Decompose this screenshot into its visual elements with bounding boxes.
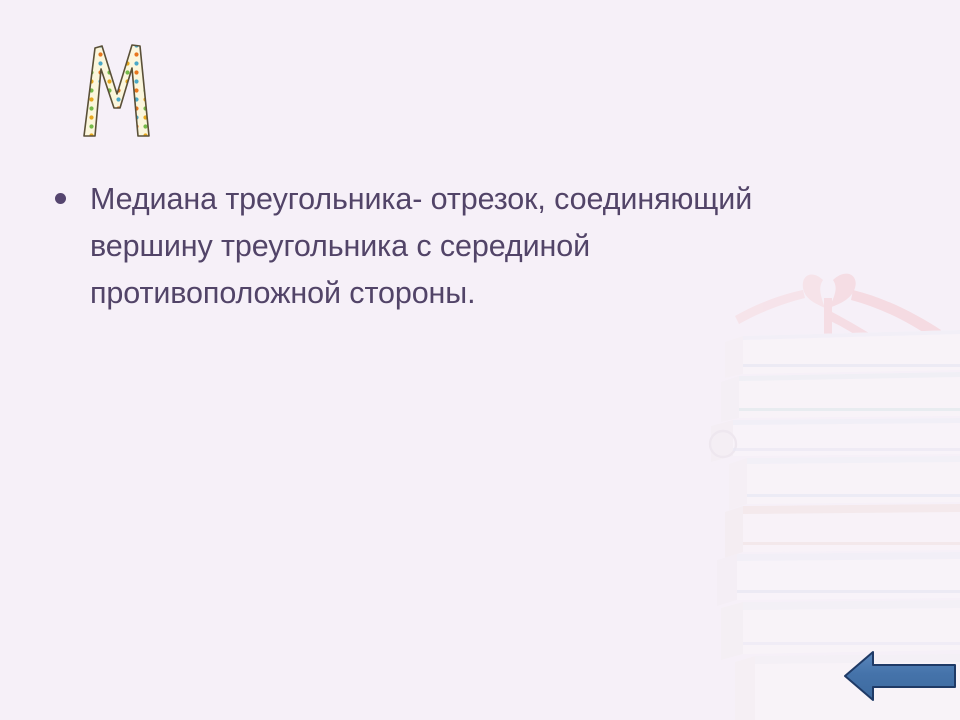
decorative-letter-m xyxy=(78,32,156,142)
back-arrow-icon xyxy=(845,652,955,700)
slide-canvas: Медиана треугольника- отрезок, соединяющ… xyxy=(0,0,960,720)
definition-bullet-item: Медиана треугольника- отрезок, соединяющ… xyxy=(55,176,855,317)
bullet-point-icon xyxy=(55,193,66,204)
definition-text: Медиана треугольника- отрезок, соединяющ… xyxy=(90,176,816,317)
back-arrow-button[interactable] xyxy=(843,650,957,702)
